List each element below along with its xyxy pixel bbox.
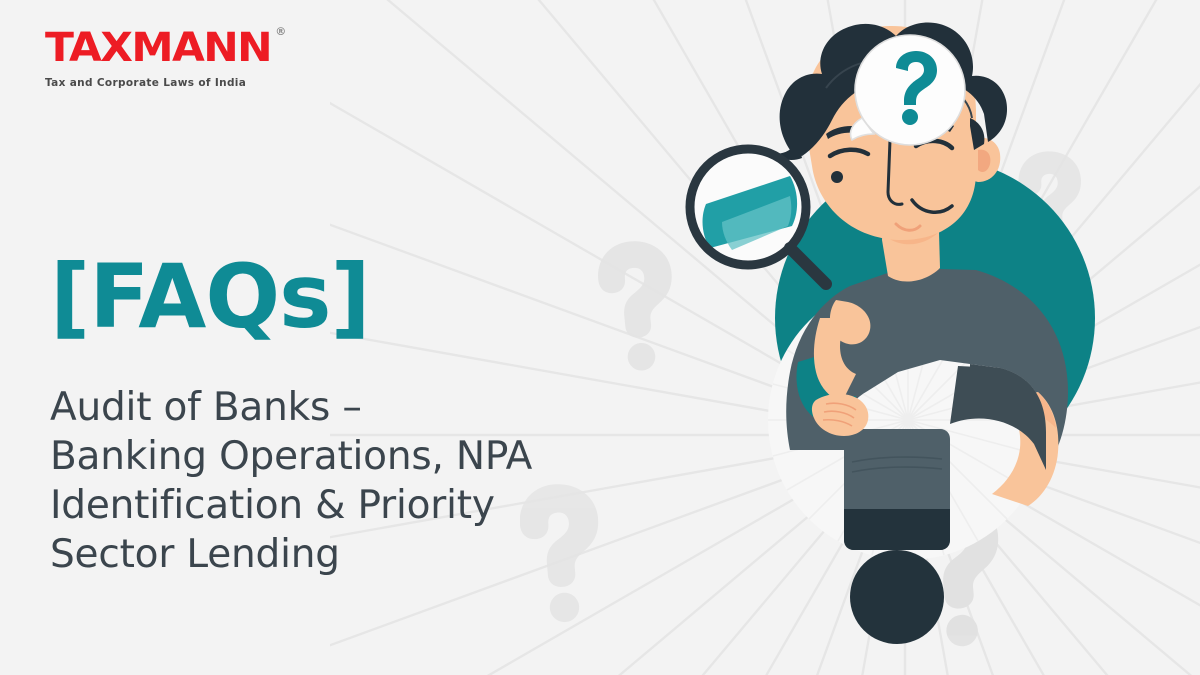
eyebrow-faqs: [FAQs]: [50, 253, 370, 341]
question-mark-dot: [850, 550, 944, 644]
taxmann-logo[interactable]: TAXMANN ® Tax and Corporate Laws of Indi…: [45, 28, 305, 89]
man-with-magnifier-illustration: [640, 0, 1200, 675]
logo-wordmark-text: TAXMANN: [45, 25, 271, 71]
faq-banner: TAXMANN ® Tax and Corporate Laws of Indi…: [0, 0, 1200, 675]
registered-trademark-icon: ®: [276, 26, 287, 37]
title-line-3: Identification & Priority: [50, 481, 690, 530]
page-title: Audit of Banks – Banking Operations, NPA…: [50, 383, 690, 580]
character-mole: [831, 171, 843, 183]
logo-tagline: Tax and Corporate Laws of India: [45, 77, 305, 89]
title-line-2: Banking Operations, NPA: [50, 432, 690, 481]
title-line-4: Sector Lending: [50, 530, 690, 579]
question-mark-stem-base: [844, 509, 950, 550]
magnifying-glass: [690, 149, 826, 284]
logo-wordmark: TAXMANN ®: [45, 28, 271, 68]
title-line-1: Audit of Banks –: [50, 383, 690, 432]
hero-illustration: [640, 0, 1200, 675]
